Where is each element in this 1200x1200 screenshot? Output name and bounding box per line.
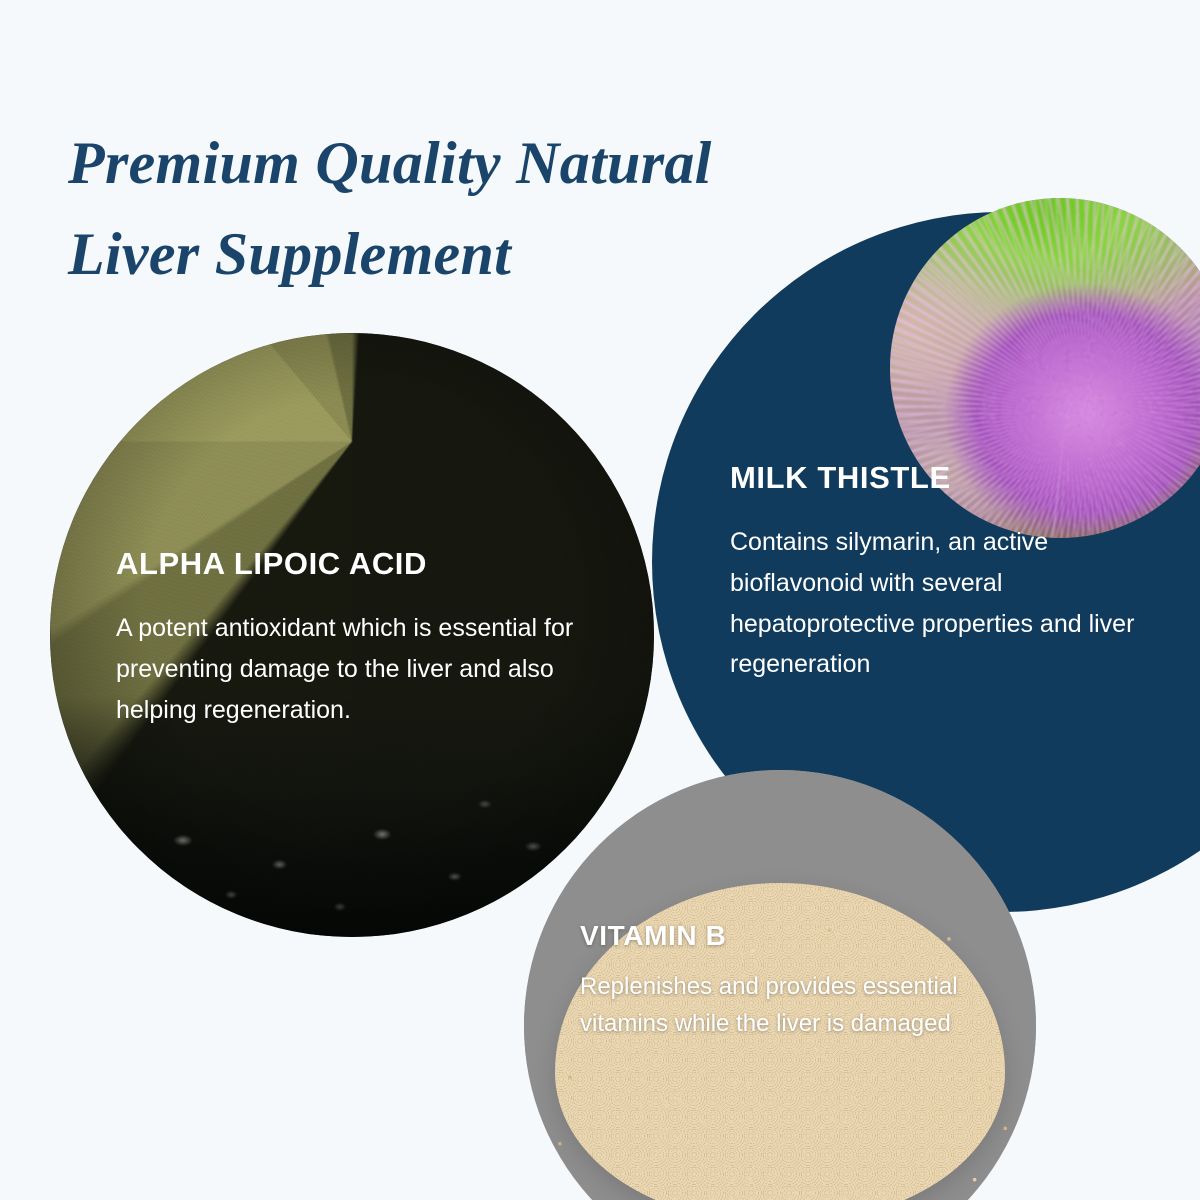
page-title-line-1: Premium Quality Natural bbox=[68, 118, 928, 209]
milk-thistle-title: MILK THISTLE bbox=[730, 461, 1180, 495]
vitamin-b-description: Replenishes and provides essential vitam… bbox=[580, 968, 1030, 1042]
alpha-lipoic-acid-description: A potent antioxidant which is essential … bbox=[116, 608, 586, 730]
alpha-lipoic-acid-text-block: ALPHA LIPOIC ACID A potent antioxidant w… bbox=[116, 547, 586, 730]
milk-thistle-text-block: MILK THISTLE Contains silymarin, an acti… bbox=[730, 461, 1180, 685]
alpha-lipoic-acid-title: ALPHA LIPOIC ACID bbox=[116, 547, 586, 581]
vitamin-b-title: VITAMIN B bbox=[580, 921, 1030, 952]
page-title-line-2: Liver Supplement bbox=[68, 209, 928, 300]
milk-thistle-description: Contains silymarin, an active bioflavono… bbox=[730, 522, 1180, 685]
page-title: Premium Quality Natural Liver Supplement bbox=[68, 118, 928, 300]
liver-supplement-infographic: Premium Quality Natural Liver Supplement… bbox=[0, 0, 1200, 1200]
vitamin-b-text-block: VITAMIN B Replenishes and provides essen… bbox=[580, 921, 1030, 1042]
